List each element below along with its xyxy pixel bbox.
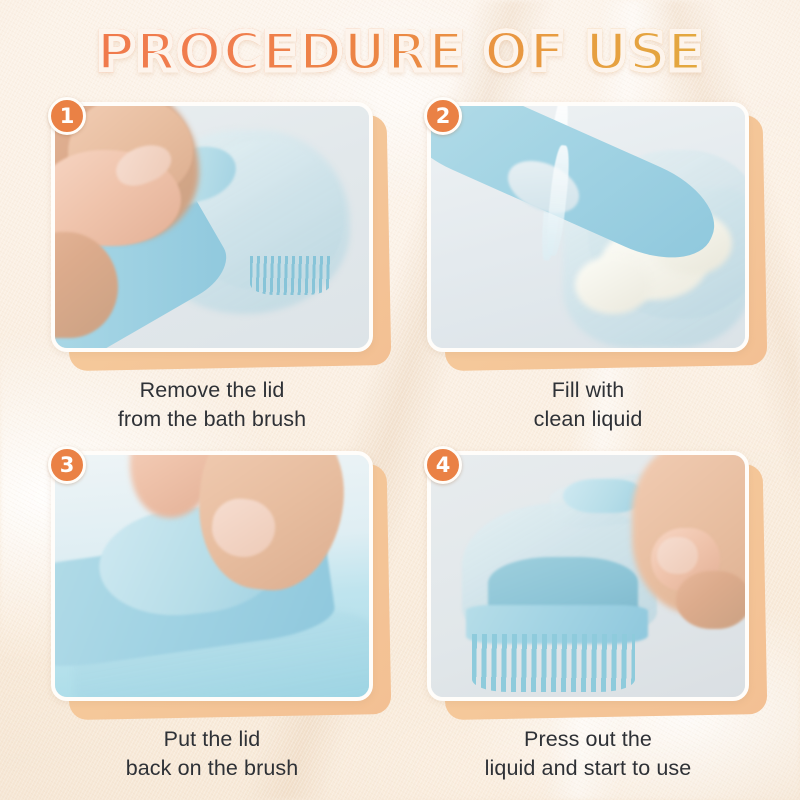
step-4-photo xyxy=(427,451,749,701)
step-3-caption: Put the lid back on the brush xyxy=(126,725,299,782)
step-1-number-badge: 1 xyxy=(48,97,86,135)
step-3-photo-frame: 3 xyxy=(51,451,373,701)
step-2-caption: Fill with clean liquid xyxy=(534,376,643,433)
step-2-photo-frame: 2 xyxy=(427,102,749,352)
title-container: PROCEDURE OF USE xyxy=(0,26,800,79)
step-2-illustration xyxy=(431,106,745,348)
step-3-number-badge: 3 xyxy=(48,446,86,484)
step-4-illustration xyxy=(431,455,745,697)
step-4-caption: Press out the liquid and start to use xyxy=(485,725,692,782)
step-1: 1 Remove the lid from the bath brush xyxy=(28,102,396,443)
poster: PROCEDURE OF USE xyxy=(0,0,800,800)
step-2-photo xyxy=(427,102,749,352)
step-4-photo-frame: 4 xyxy=(427,451,749,701)
steps-grid: 1 Remove the lid from the bath brush xyxy=(0,102,800,792)
step-1-photo xyxy=(51,102,373,352)
page-title: PROCEDURE OF USE xyxy=(96,26,703,79)
step-1-photo-frame: 1 xyxy=(51,102,373,352)
step-4: 4 Press out the liquid and start to use xyxy=(404,451,772,792)
step-1-caption: Remove the lid from the bath brush xyxy=(118,376,306,433)
step-2: 2 Fill with clean liquid xyxy=(404,102,772,443)
step-3-illustration xyxy=(55,455,369,697)
step-2-number-badge: 2 xyxy=(424,97,462,135)
step-4-number-badge: 4 xyxy=(424,446,462,484)
step-1-illustration xyxy=(55,106,369,348)
step-3: 3 Put the lid back on the brush xyxy=(28,451,396,792)
step-3-photo xyxy=(51,451,373,701)
